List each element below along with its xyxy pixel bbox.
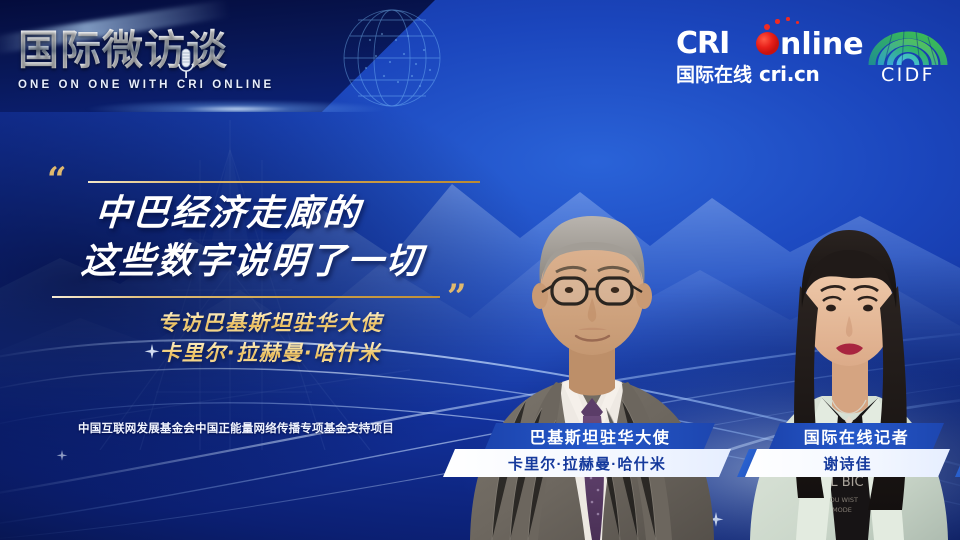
cri-online-word: nline [780,27,864,62]
header-band: 国际微访谈 ONE ON ONE WITH CRI ONLINE CRI nli… [0,0,960,112]
headline-rule-bottom [52,296,440,298]
reporter-photo: CAL BIC YOU WIST MODE [742,168,956,540]
nameplate-reporter-name: 谢诗佳 [745,449,950,477]
cidf-arc-icon [862,26,954,66]
cidf-logo[interactable]: CIDF [862,26,954,88]
nameplate-reporter: 国际在线记者 谢诗佳 [745,423,955,477]
microphone-icon [175,48,197,82]
cri-bubble-dot-1 [764,24,770,30]
cri-domain: cri.cn [759,62,819,86]
program-logo-title: 国际微访谈 [18,26,298,74]
cri-bubble-dot-4 [796,21,799,24]
sponsor-fineprint: 中国互联网发展基金会中国正能量网络传播专项基金支持项目 [78,421,418,437]
headline-line-1: 中巴经济走廊的 [93,192,496,236]
headline-rule-top [88,181,480,183]
nameplate-ambassador-title: 巴基斯坦驻华大使 [485,423,715,449]
cri-online-logo[interactable]: CRI nline 国际在线 cri.cn [676,26,848,88]
cri-logo-row-top: CRI nline [676,26,848,60]
subtitle: 专访巴基斯坦驻华大使 卡里尔·拉赫曼·哈什米 [85,308,455,368]
cri-bubble-dot-3 [786,17,790,21]
headline: 中巴经济走廊的 这些数字说明了一切 [95,192,495,284]
ambassador-photo [452,150,732,540]
cri-red-dot-icon [756,32,779,55]
program-logo-subtitle: ONE ON ONE WITH CRI ONLINE [18,79,298,91]
subtitle-line-2: 卡里尔·拉赫曼·哈什米 [85,338,455,368]
svg-text:MODE: MODE [832,506,852,514]
headline-line-2: 这些数字说明了一切 [79,240,496,284]
cri-logo-row-bottom: 国际在线 cri.cn [676,60,819,87]
quote-mark-open: “ [47,170,67,190]
cri-wordmark: CRI [676,26,729,61]
cidf-label: CIDF [862,64,954,86]
subtitle-line-1: 专访巴基斯坦驻华大使 [85,308,455,338]
program-logo: 国际微访谈 ONE ON ONE WITH CRI ONLINE [18,26,298,104]
cri-bubble-dot-2 [775,19,780,24]
nameplate-ambassador-name: 卡里尔·拉赫曼·哈什米 [443,449,731,477]
nameplate-ambassador: 巴基斯坦驻华大使 卡里尔·拉赫曼·哈什米 [443,423,731,477]
globe-wireframe-icon [330,6,460,110]
cri-chinese-name: 国际在线 [676,60,752,87]
nameplate-reporter-title: 国际在线记者 [769,423,944,449]
poster-canvas: 国际微访谈 ONE ON ONE WITH CRI ONLINE CRI nli… [0,0,960,540]
